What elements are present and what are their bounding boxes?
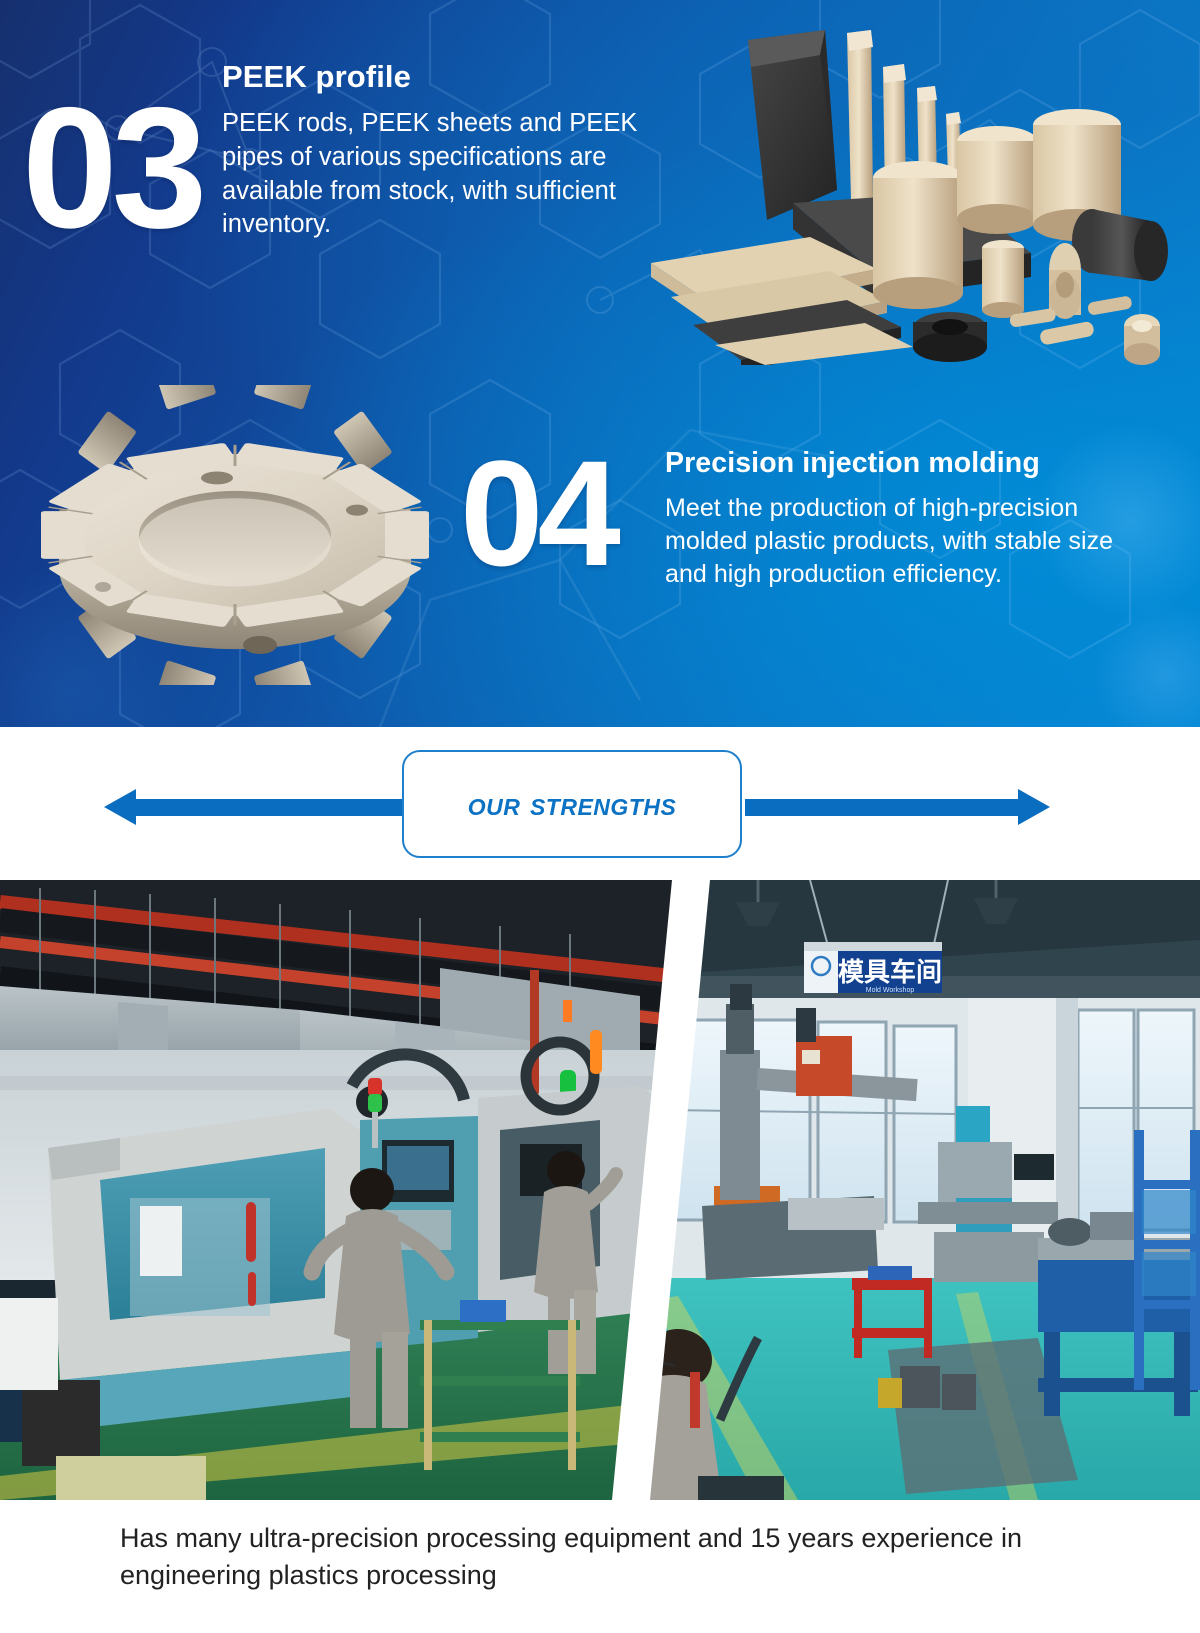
arrow-right-bar bbox=[745, 799, 1020, 816]
caption-text: Has many ultra-precision processing equi… bbox=[120, 1520, 1080, 1595]
feature-title-03: PEEK profile bbox=[222, 60, 652, 95]
arrow-left-bar bbox=[132, 799, 442, 816]
cnc-workshop-photo bbox=[0, 880, 672, 1500]
caption-section: Has many ultra-precision processing equi… bbox=[0, 1500, 1200, 1633]
our-strengths-label-box: Our strengths bbox=[402, 750, 742, 858]
page-root: 03 PEEK profile PEEK rods, PEEK sheets a… bbox=[0, 0, 1200, 1633]
our-strengths-label: Our strengths bbox=[468, 785, 677, 823]
feature-block-04: 04 Precision injection molding Meet the … bbox=[450, 432, 1150, 657]
svg-text:模具车间: 模具车间 bbox=[838, 957, 942, 988]
peek-profile-product-image bbox=[615, 15, 1195, 365]
feature-number-04: 04 bbox=[460, 438, 615, 588]
black-block-large bbox=[748, 30, 837, 220]
feature-body-04: Meet the production of high-precision mo… bbox=[665, 492, 1145, 592]
black-ring bbox=[913, 312, 987, 362]
feature-block-03: 03 PEEK profile PEEK rods, PEEK sheets a… bbox=[0, 60, 660, 350]
feature-body-03: PEEK rods, PEEK sheets and PEEK pipes of… bbox=[222, 107, 652, 243]
feature-title-04: Precision injection molding bbox=[665, 448, 1145, 480]
hero-section: 03 PEEK profile PEEK rods, PEEK sheets a… bbox=[0, 0, 1200, 727]
precision-molded-ring-part-image bbox=[25, 385, 445, 685]
arrow-right-icon bbox=[1018, 789, 1050, 825]
black-tube bbox=[1072, 209, 1168, 281]
factory-photo-gallery: 模具车间 Mold Workshop bbox=[0, 880, 1200, 1500]
svg-text:Mold Workshop: Mold Workshop bbox=[866, 987, 915, 994]
feature-number-03: 03 bbox=[22, 82, 201, 254]
mold-workshop-photo: 模具车间 Mold Workshop bbox=[638, 880, 1200, 1500]
